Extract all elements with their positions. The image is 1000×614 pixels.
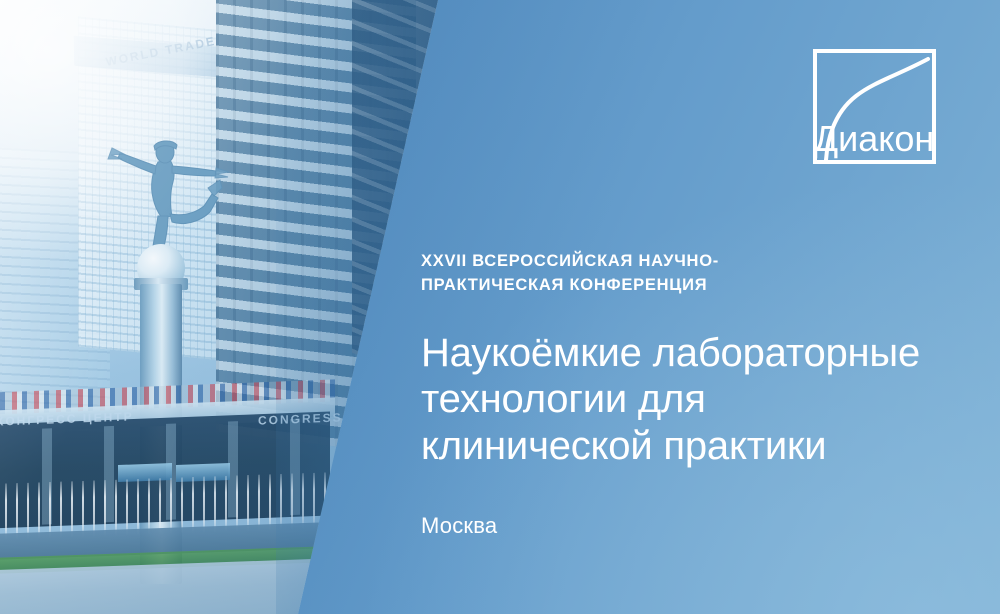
logo-wordmark: Диакон	[814, 118, 935, 159]
page-title: Наукоёмкие лабораторные технологии для к…	[421, 330, 941, 469]
diakon-logo: Диакон	[812, 48, 937, 165]
conference-eyebrow: XXVII Всероссийская научно-практическая …	[421, 250, 781, 298]
mercury-statue-icon	[96, 118, 236, 263]
banner-content: XXVII Всероссийская научно-практическая …	[421, 250, 951, 539]
city-label: Москва	[421, 513, 951, 539]
conference-banner: WORLD TRADE CENTER	[0, 0, 1000, 614]
